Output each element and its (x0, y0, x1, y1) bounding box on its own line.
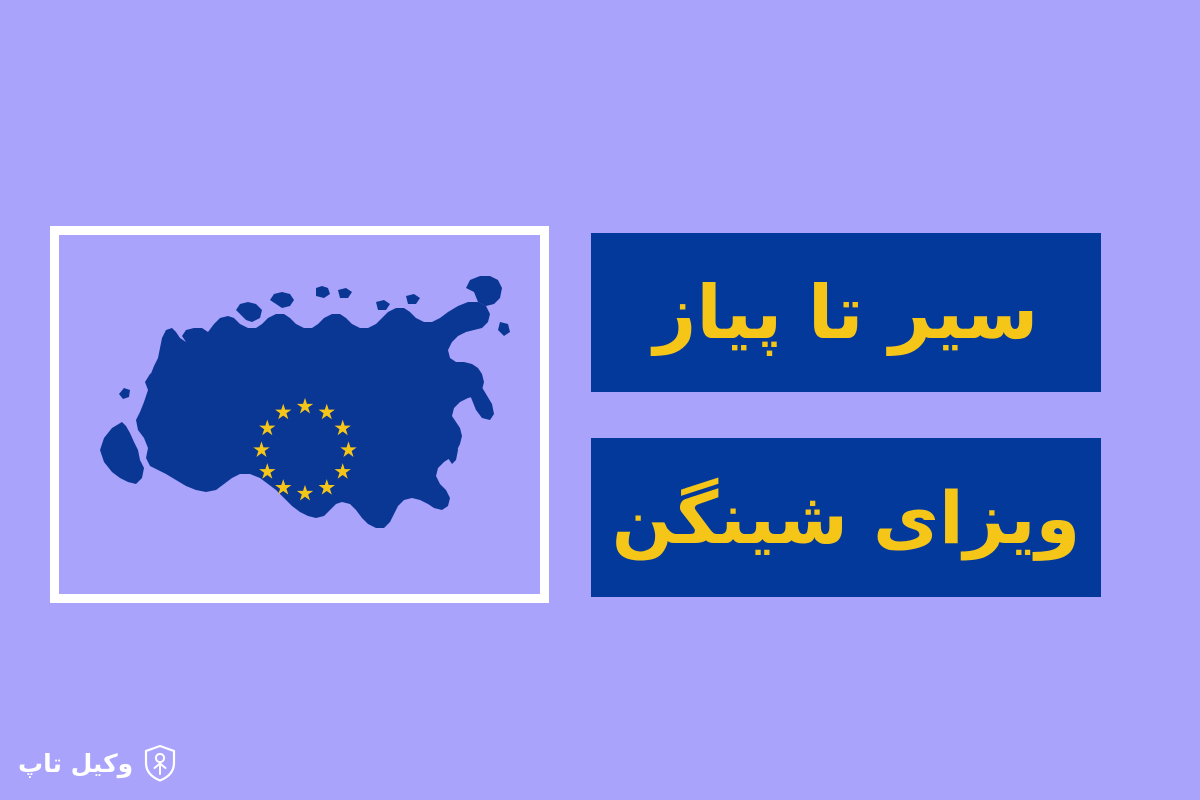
headline-banner-primary: سیر تا پیاز (591, 233, 1101, 392)
shield-person-icon-svg (143, 744, 177, 782)
headline-text-primary: سیر تا پیاز (654, 276, 1039, 350)
russia-map (90, 270, 530, 540)
poster-canvas: سیر تا پیاز ویزای شینگن وکیل تاپ (0, 0, 1200, 800)
brand-logo: وکیل تاپ (18, 744, 177, 782)
russia-map-svg (90, 270, 530, 540)
headline-text-secondary: ویزای شینگن (612, 482, 1081, 554)
shield-person-icon (143, 744, 177, 782)
russia-landmass (100, 276, 510, 528)
headline-banner-secondary: ویزای شینگن (591, 438, 1101, 597)
brand-logo-text: وکیل تاپ (18, 751, 133, 776)
